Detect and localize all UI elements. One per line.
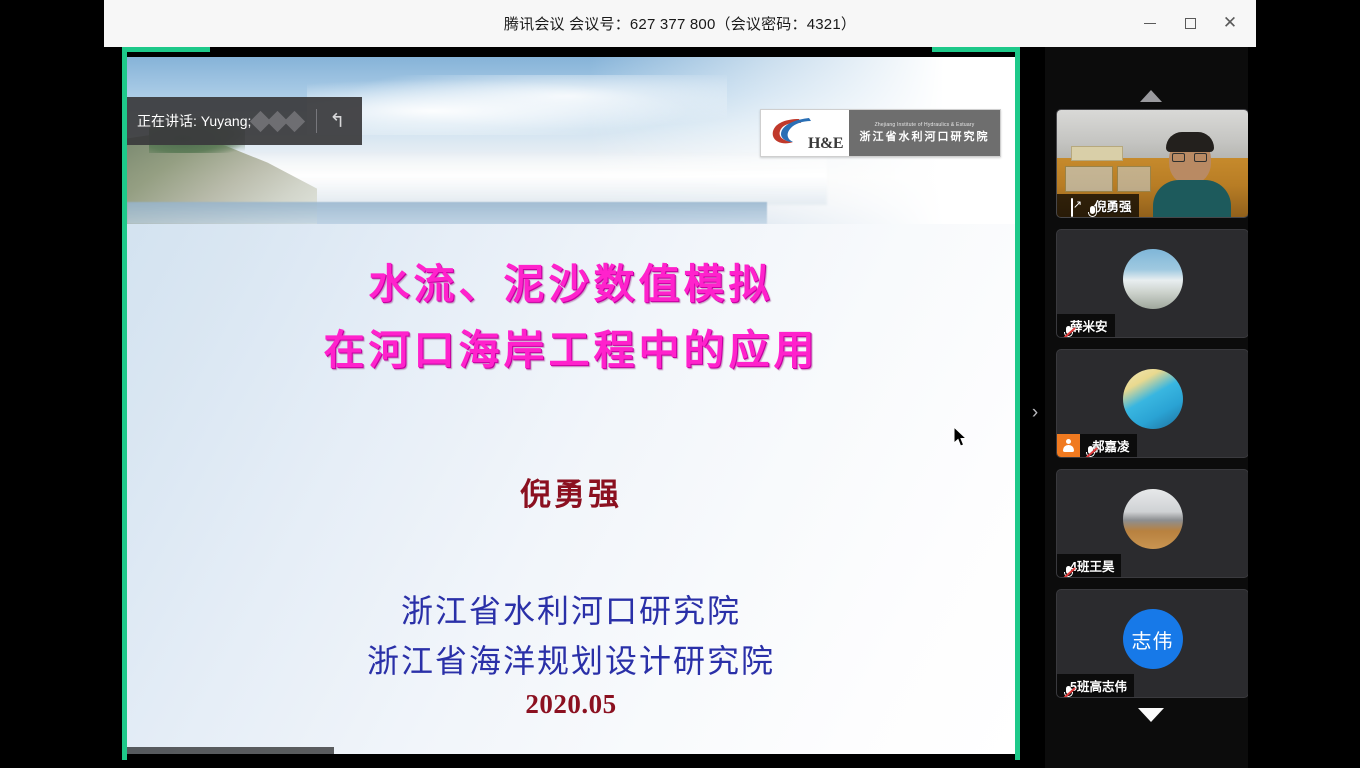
logo-institute-name: Zhejiang Institute of Hydraulics & Estua… <box>849 110 1000 156</box>
participant-name: 5班高志伟 <box>1070 676 1127 695</box>
slide-title: 水流、泥沙数值模拟 在河口海岸工程中的应用 <box>127 252 1015 383</box>
close-icon: ✕ <box>1223 15 1237 32</box>
host-badge-icon <box>1057 434 1080 457</box>
logo-he-text: H&E <box>808 135 843 153</box>
logo-mark: H&E <box>761 110 849 156</box>
participant-tiles: ↗ 倪勇强 <box>1056 109 1249 709</box>
participant-name: 薛米安 <box>1070 316 1108 335</box>
logo-english-name: Zhejiang Institute of Hydraulics & Estua… <box>875 123 975 129</box>
triangle-up-icon <box>1140 90 1162 102</box>
participant-badges: 5班高志伟 <box>1057 674 1134 697</box>
avatar: 志伟 <box>1123 609 1183 669</box>
roster-scroll-down-button[interactable] <box>1045 704 1256 726</box>
logo-chinese-name: 浙江省水利河口研究院 <box>860 131 990 143</box>
meeting-window: 腾讯会议 会议号：627 377 800（会议密码：4321） ✕ <box>104 0 1256 768</box>
presentation-slide: H&E Zhejiang Institute of Hydraulics & E… <box>127 57 1015 754</box>
speaking-label: 正在讲话: Yuyang; <box>137 111 251 131</box>
slide-org-line1: 浙江省水利河口研究院 <box>127 587 1015 637</box>
speaking-waveform-icon <box>253 114 302 129</box>
participant-badges: 薛米安 <box>1057 314 1115 337</box>
window-controls: ✕ <box>1130 0 1250 47</box>
participant-badges: ↗ 倪勇强 <box>1057 194 1139 217</box>
shared-screen-region: H&E Zhejiang Institute of Hydraulics & E… <box>122 47 1020 760</box>
slide-author: 倪勇强 <box>127 469 1015 514</box>
maximize-icon <box>1185 18 1196 29</box>
desktop-background-left <box>0 0 104 768</box>
share-status-label: 倪勇强的屏幕共享 <box>161 751 289 755</box>
collapse-roster-button[interactable]: › <box>1024 377 1046 449</box>
share-status-bar: ↗ 倪勇强的屏幕共享 <box>127 747 334 754</box>
participant-roster: ↗ 倪勇强 <box>1045 47 1256 768</box>
roster-scroll-up-button[interactable] <box>1045 85 1256 107</box>
screen-root: 腾讯会议 会议号：627 377 800（会议密码：4321） ✕ <box>0 0 1360 768</box>
avatar <box>1123 489 1183 549</box>
desktop-background-right <box>1256 0 1360 768</box>
toast-divider <box>316 109 317 133</box>
participant-tile[interactable]: 薛米安 <box>1056 229 1249 338</box>
avatar <box>1123 249 1183 309</box>
share-border-right <box>1015 47 1020 760</box>
window-titlebar: 腾讯会议 会议号：627 377 800（会议密码：4321） ✕ <box>104 0 1256 47</box>
speaking-indicator: 正在讲话: Yuyang; ↰ <box>127 97 362 145</box>
participant-badges: 郝嘉凌 <box>1057 434 1137 457</box>
share-border-top-left <box>122 47 210 52</box>
chevron-right-icon: › <box>1032 402 1038 424</box>
minimize-button[interactable] <box>1130 5 1170 43</box>
share-border-top-right <box>932 47 1020 52</box>
window-body: H&E Zhejiang Institute of Hydraulics & E… <box>104 47 1256 768</box>
participant-tile[interactable]: ↗ 倪勇强 <box>1056 109 1249 218</box>
participant-tile[interactable]: 志伟 5班高志伟 <box>1056 589 1249 698</box>
slide-date: 2020.05 <box>127 689 1015 720</box>
triangle-down-icon <box>1138 708 1164 722</box>
slide-title-line1: 水流、泥沙数值模拟 <box>127 252 1015 318</box>
screen-share-icon: ↗ <box>1064 199 1082 213</box>
avatar <box>1123 369 1183 429</box>
participant-tile[interactable]: 郝嘉凌 <box>1056 349 1249 458</box>
close-button[interactable]: ✕ <box>1210 5 1250 43</box>
banner-clouds <box>307 75 727 135</box>
participant-tile[interactable]: 4班王昊 <box>1056 469 1249 578</box>
meeting-title: 腾讯会议 会议号：627 377 800（会议密码：4321） <box>504 13 856 34</box>
slide-org-line2: 浙江省海洋规划设计研究院 <box>127 637 1015 687</box>
roster-gutter <box>1248 47 1256 768</box>
participant-name: 4班王昊 <box>1070 556 1114 575</box>
return-arrow-icon[interactable]: ↰ <box>329 112 345 131</box>
participant-name: 倪勇强 <box>1094 196 1132 215</box>
participant-badges: 4班王昊 <box>1057 554 1121 577</box>
banner-water <box>127 202 767 224</box>
participant-name: 郝嘉凌 <box>1092 436 1130 455</box>
institute-logo: H&E Zhejiang Institute of Hydraulics & E… <box>760 109 1001 157</box>
maximize-button[interactable] <box>1170 5 1210 43</box>
slide-organizations: 浙江省水利河口研究院 浙江省海洋规划设计研究院 <box>127 587 1015 686</box>
avatar-initials: 志伟 <box>1132 625 1174 654</box>
minimize-icon <box>1144 23 1156 25</box>
slide-title-line2: 在河口海岸工程中的应用 <box>127 318 1015 384</box>
